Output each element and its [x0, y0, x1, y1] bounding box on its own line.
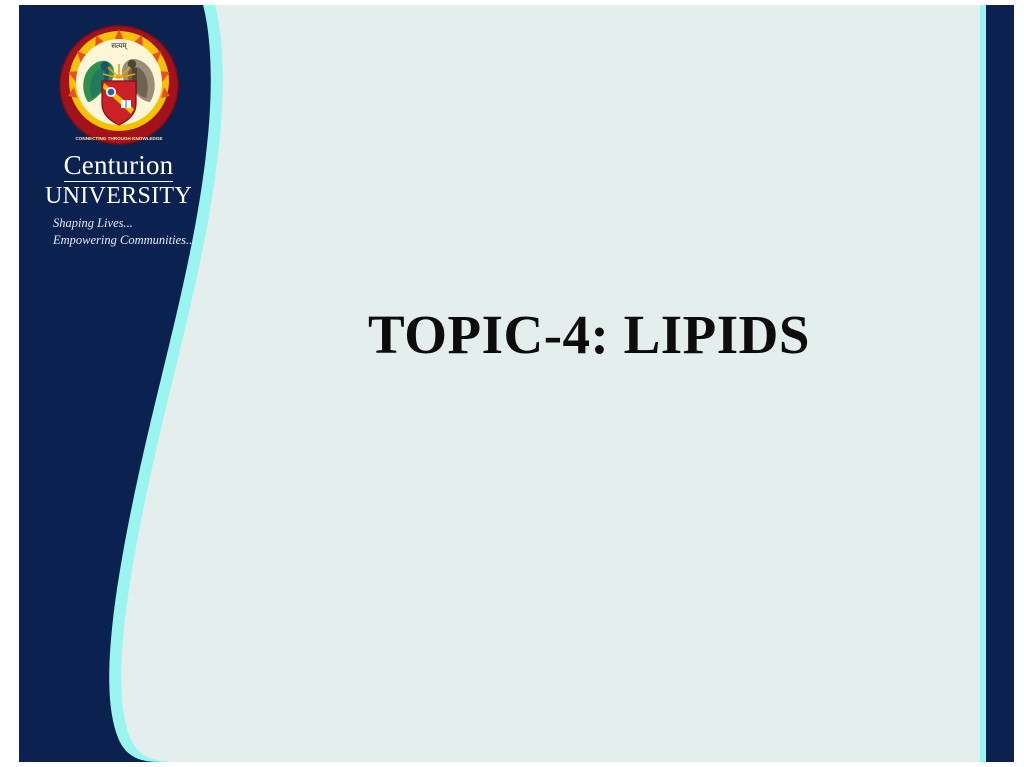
svg-text:CONNECTING THROUGH KNOWLEDGE: CONNECTING THROUGH KNOWLEDGE	[75, 136, 162, 141]
university-wordmark: Centurion UNIVERSITY	[36, 152, 201, 209]
tagline-line-1: Shaping Lives...	[53, 215, 201, 232]
logo-block: CONNECTING THROUGH KNOWLEDGE	[36, 24, 201, 248]
slide-title: TOPIC-4: LIPIDS	[219, 305, 959, 366]
university-crest-icon: CONNECTING THROUGH KNOWLEDGE	[58, 24, 180, 146]
crest-ring-motto: CONNECTING THROUGH KNOWLEDGE	[75, 136, 162, 141]
university-tagline: Shaping Lives... Empowering Communities.…	[36, 215, 201, 249]
title-area: TOPIC-4: LIPIDS	[219, 305, 959, 366]
crest-devanagari-motto: सत्यम्	[111, 41, 127, 50]
wordmark-line-1: Centurion	[64, 152, 174, 182]
tagline-line-2: Empowering Communities...	[53, 232, 201, 249]
right-navy-accent-bar	[986, 5, 1014, 762]
slide-root: CONNECTING THROUGH KNOWLEDGE	[0, 0, 1024, 767]
slide-canvas: CONNECTING THROUGH KNOWLEDGE	[19, 5, 1014, 762]
wordmark-line-2: UNIVERSITY	[36, 184, 201, 209]
